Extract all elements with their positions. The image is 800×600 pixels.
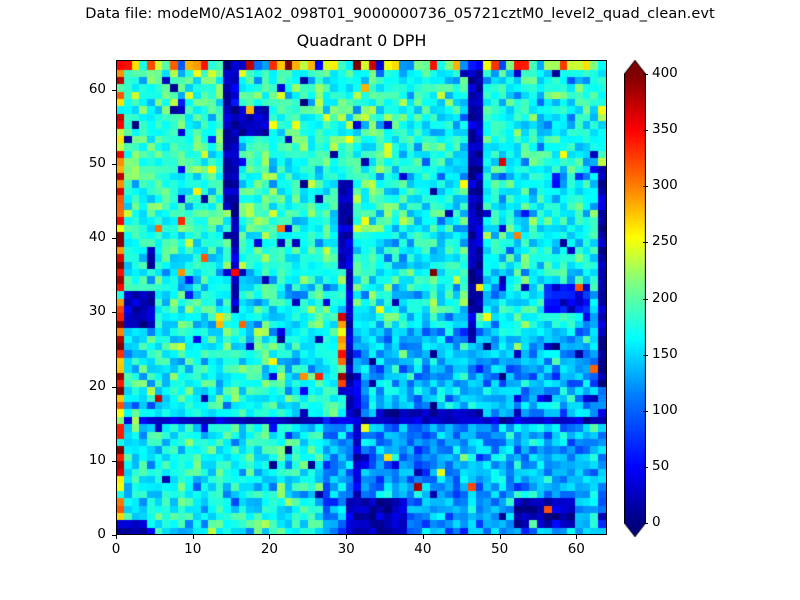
x-tick-label: 0 (91, 541, 141, 557)
colorbar-tick-mark (643, 74, 648, 75)
colorbar-tick-label: 300 (652, 177, 678, 193)
x-tick-label: 10 (168, 541, 218, 557)
x-tick-mark (346, 535, 347, 539)
y-tick-mark (112, 164, 116, 165)
colorbar-tick-label: 0 (652, 514, 661, 530)
y-tick-label: 0 (66, 526, 106, 542)
colorbar-tick-mark (643, 242, 648, 243)
colorbar-tick-label: 150 (652, 346, 678, 362)
x-tick-mark (576, 535, 577, 539)
colorbar-tick-mark (643, 467, 648, 468)
figure-canvas: Data file: modeM0/AS1A02_098T01_90000007… (0, 0, 800, 600)
y-tick-mark (112, 238, 116, 239)
y-tick-label: 20 (66, 378, 106, 394)
colorbar-tick-mark (643, 411, 648, 412)
x-tick-label: 50 (475, 541, 525, 557)
y-tick-mark (112, 90, 116, 91)
y-tick-label: 30 (66, 303, 106, 319)
colorbar-tick-label: 50 (652, 458, 669, 474)
colorbar-tick-mark (643, 523, 648, 524)
y-tick-mark (112, 312, 116, 313)
y-tick-label: 50 (66, 155, 106, 171)
x-tick-label: 40 (398, 541, 448, 557)
y-tick-label: 60 (66, 81, 106, 97)
colorbar-tick-mark (643, 130, 648, 131)
x-tick-mark (116, 535, 117, 539)
x-tick-label: 20 (244, 541, 294, 557)
x-tick-label: 30 (321, 541, 371, 557)
heatmap-plot-area (116, 60, 607, 535)
y-tick-label: 10 (66, 452, 106, 468)
figure-suptitle: Data file: modeM0/AS1A02_098T01_90000007… (0, 6, 800, 22)
y-tick-mark (112, 387, 116, 388)
colorbar-tick-label: 350 (652, 121, 678, 137)
y-tick-mark (112, 535, 116, 536)
x-tick-mark (193, 535, 194, 539)
colorbar-tick-label: 200 (652, 290, 678, 306)
x-tick-mark (423, 535, 424, 539)
colorbar-tick-label: 400 (652, 65, 678, 81)
x-tick-mark (500, 535, 501, 539)
x-tick-mark (269, 535, 270, 539)
heatmap-image (117, 61, 606, 534)
axes-title: Quadrant 0 DPH (116, 31, 607, 50)
colorbar-tick-label: 250 (652, 233, 678, 249)
y-tick-label: 40 (66, 229, 106, 245)
colorbar-tick-mark (643, 299, 648, 300)
x-tick-label: 60 (551, 541, 601, 557)
colorbar-tick-label: 100 (652, 402, 678, 418)
colorbar-tick-mark (643, 186, 648, 187)
y-tick-mark (112, 461, 116, 462)
colorbar-tick-mark (643, 355, 648, 356)
